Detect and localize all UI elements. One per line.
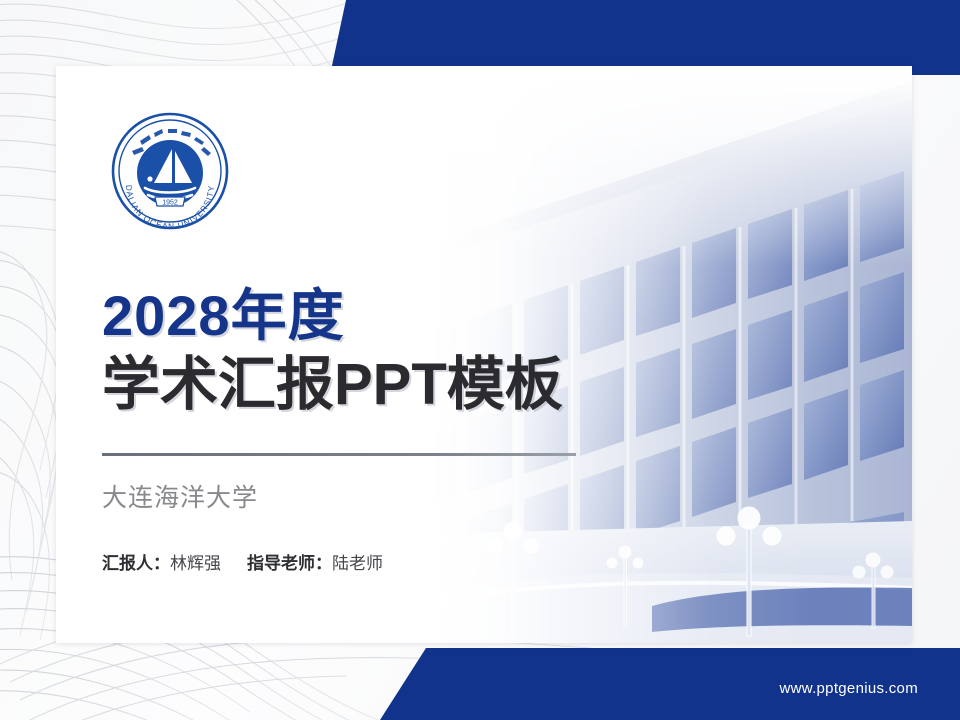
title-divider xyxy=(102,453,576,456)
slide-title-main: 学术汇报PPT模板 xyxy=(102,356,563,414)
top-blue-band xyxy=(330,0,960,75)
card-text-column: DALIAN OCEAN UNIVERSITY 1952 2028年度 学术汇报… xyxy=(100,66,660,643)
content-card: DALIAN OCEAN UNIVERSITY 1952 2028年度 学术汇报… xyxy=(56,66,912,643)
slide-title-year: 2028年度 xyxy=(102,288,345,344)
footer-website-url[interactable]: www.pptgenius.com xyxy=(780,680,919,697)
presenter-line: 汇报人：林辉强指导老师：陆老师 xyxy=(102,549,383,574)
university-name-subtitle: 大连海洋大学 xyxy=(102,478,258,514)
presentation-slide: DALIAN OCEAN UNIVERSITY 1952 2028年度 学术汇报… xyxy=(0,0,960,720)
advisor-name: 陆老师 xyxy=(332,554,383,573)
advisor-separator: ： xyxy=(315,554,332,573)
reporter-label: 汇报人 xyxy=(102,554,153,573)
svg-text:1952: 1952 xyxy=(162,199,178,206)
reporter-name: 林辉强 xyxy=(170,554,221,573)
advisor-label: 指导老师 xyxy=(247,554,315,573)
university-logo: DALIAN OCEAN UNIVERSITY 1952 xyxy=(100,108,240,234)
reporter-separator: ： xyxy=(153,554,170,573)
